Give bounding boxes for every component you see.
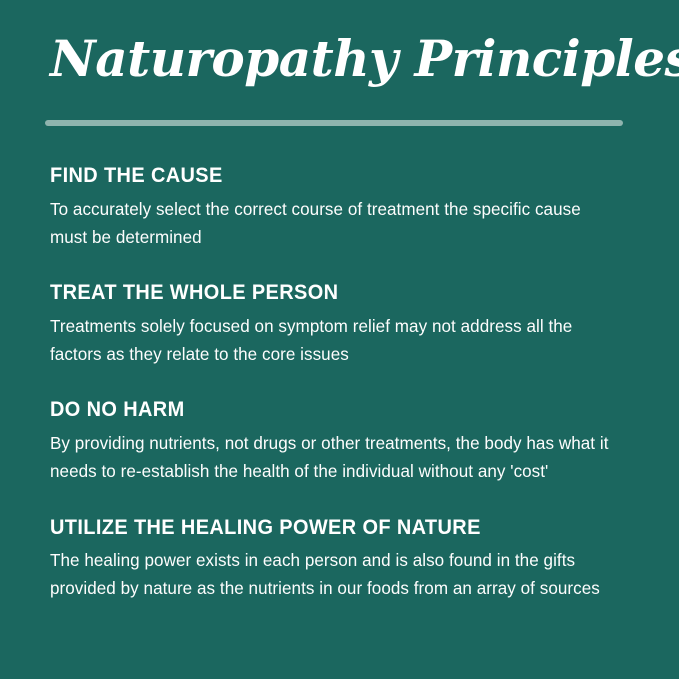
principle-body: To accurately select the correct course … (50, 195, 621, 252)
title-block: Naturopathy Principles (50, 32, 650, 86)
principle-item-do-no-harm: DO NO HARM By providing nutrients, not d… (50, 398, 636, 485)
principle-body: The healing power exists in each person … (50, 546, 621, 603)
principle-heading: FIND THE CAUSE (50, 164, 607, 188)
principle-heading: UTILIZE THE HEALING POWER OF NATURE (50, 516, 607, 540)
principle-body: By providing nutrients, not drugs or oth… (50, 429, 621, 486)
principle-heading: DO NO HARM (50, 398, 607, 422)
title-divider (45, 120, 623, 126)
principles-list: FIND THE CAUSE To accurately select the … (50, 164, 636, 603)
principle-item-find-the-cause: FIND THE CAUSE To accurately select the … (50, 164, 636, 251)
principle-heading: TREAT THE WHOLE PERSON (50, 281, 607, 305)
principle-body: Treatments solely focused on symptom rel… (50, 312, 621, 369)
principle-item-treat-the-whole-person: TREAT THE WHOLE PERSON Treatments solely… (50, 281, 636, 368)
page-title: Naturopathy Principles (50, 32, 650, 86)
principle-item-utilize-the-healing-power-of-nature: UTILIZE THE HEALING POWER OF NATURE The … (50, 516, 636, 603)
naturopathy-principles-card: Naturopathy Principles FIND THE CAUSE To… (0, 0, 679, 679)
